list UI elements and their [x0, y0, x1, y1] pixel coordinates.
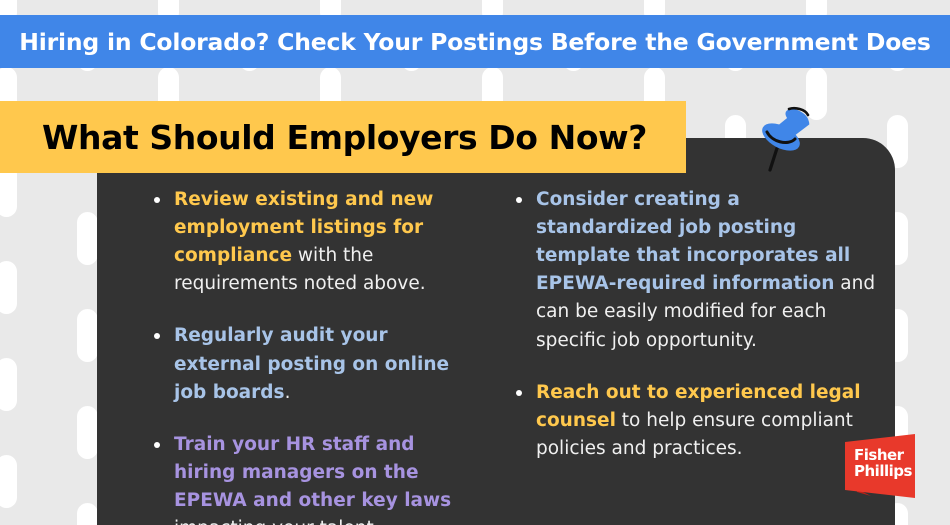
- logo-line-2: Phillips: [854, 464, 912, 480]
- background-capsule: [0, 455, 17, 508]
- background-capsule: [0, 358, 17, 411]
- section-heading-title: What Should Employers Do Now?: [42, 118, 647, 157]
- pushpin-icon: [748, 98, 832, 184]
- bullet-columns: Review existing and new employment listi…: [97, 138, 895, 525]
- right-bullet-list: Consider creating a standardized job pos…: [514, 186, 877, 463]
- right-column: Consider creating a standardized job pos…: [496, 186, 895, 525]
- section-heading-banner: What Should Employers Do Now?: [0, 101, 686, 173]
- bullet-item: Consider creating a standardized job pos…: [514, 186, 877, 355]
- background-capsule: [77, 212, 98, 265]
- bullet-body-text: .: [285, 382, 291, 403]
- fisher-phillips-logo: Fisher Phillips: [845, 434, 927, 512]
- bullet-item: Reach out to experienced legal counsel t…: [514, 379, 877, 463]
- bullet-lead-text: Train your HR staff and hiring managers …: [174, 434, 451, 511]
- left-bullet-list: Review existing and new employment listi…: [152, 186, 478, 525]
- bullet-item: Regularly audit your external posting on…: [152, 322, 478, 406]
- bullet-item: Train your HR staff and hiring managers …: [152, 431, 478, 525]
- header-bar: Hiring in Colorado? Check Your Postings …: [0, 15, 950, 68]
- logo-wordmark: Fisher Phillips: [854, 448, 912, 479]
- background-capsule: [0, 261, 17, 314]
- bullet-lead-text: Consider creating a standardized job pos…: [536, 189, 850, 294]
- background-capsule: [77, 406, 98, 459]
- slide-canvas: Hiring in Colorado? Check Your Postings …: [0, 0, 950, 525]
- bullet-lead-text: Regularly audit your external posting on…: [174, 325, 449, 402]
- header-title: Hiring in Colorado? Check Your Postings …: [19, 28, 930, 56]
- background-capsule: [77, 309, 98, 362]
- left-column: Review existing and new employment listi…: [97, 186, 496, 525]
- background-capsule: [77, 503, 98, 525]
- bullet-body-text: impacting your talent acquisition progra…: [174, 518, 374, 525]
- bullet-item: Review existing and new employment listi…: [152, 186, 478, 298]
